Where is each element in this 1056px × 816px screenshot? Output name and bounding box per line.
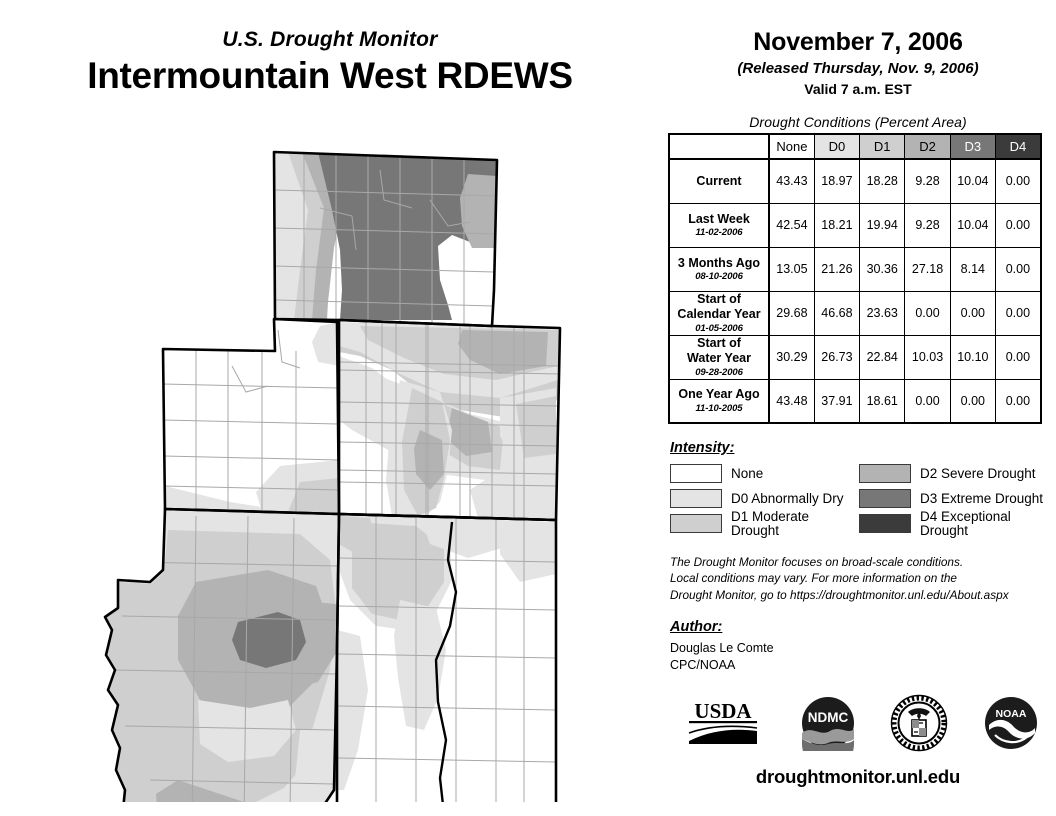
cell-d2: 9.28 bbox=[905, 203, 950, 247]
cell-d2: 0.00 bbox=[905, 291, 950, 335]
disclaimer-line-1: The Drought Monitor focuses on broad-sca… bbox=[670, 554, 1050, 570]
cell-d4: 0.00 bbox=[995, 159, 1040, 203]
legend-label-d0: D0 Abnormally Dry bbox=[731, 492, 844, 506]
cell-d0: 46.68 bbox=[814, 291, 859, 335]
cell-d4: 0.00 bbox=[995, 203, 1040, 247]
usda-logo: USDA bbox=[681, 697, 765, 754]
cell-d1: 19.94 bbox=[860, 203, 905, 247]
table-row: 3 Months Ago08-10-200613.0521.2630.3627.… bbox=[669, 247, 1041, 291]
cell-d0: 18.21 bbox=[814, 203, 859, 247]
row-date: 01-05-2006 bbox=[673, 323, 765, 334]
row-label: Start ofCalendar Year01-05-2006 bbox=[669, 291, 769, 335]
svg-text:USDA: USDA bbox=[695, 699, 753, 723]
column-header-none: None bbox=[769, 134, 814, 159]
column-header-d3: D3 bbox=[950, 134, 995, 159]
row-date: 11-02-2006 bbox=[673, 227, 765, 238]
row-date: 11-10-2005 bbox=[673, 403, 765, 414]
supertitle: U.S. Drought Monitor bbox=[0, 28, 660, 51]
legend-item-d4: D4 Exceptional Drought bbox=[859, 510, 1048, 537]
column-header-d0: D0 bbox=[814, 134, 859, 159]
page-title: Intermountain West RDEWS bbox=[0, 55, 660, 96]
cell-d4: 0.00 bbox=[995, 335, 1040, 379]
table-row: Last Week11-02-200642.5418.2119.949.2810… bbox=[669, 203, 1041, 247]
cell-none: 42.54 bbox=[769, 203, 814, 247]
author-affiliation: CPC/NOAA bbox=[670, 657, 1056, 674]
table-row: Start ofCalendar Year01-05-200629.6846.6… bbox=[669, 291, 1041, 335]
row-date: 09-28-2006 bbox=[673, 367, 765, 378]
noaa-logo: NOAA bbox=[983, 695, 1039, 756]
cell-d0: 26.73 bbox=[814, 335, 859, 379]
valid-time: Valid 7 a.m. EST bbox=[660, 81, 1056, 97]
cell-d2: 0.00 bbox=[905, 379, 950, 423]
legend-row: D1 Moderate DroughtD4 Exceptional Drough… bbox=[670, 511, 1048, 536]
row-label: Start ofWater Year09-28-2006 bbox=[669, 335, 769, 379]
legend-swatch-none bbox=[670, 464, 722, 483]
intensity-heading: Intensity: bbox=[670, 440, 1056, 456]
legend-item-d2: D2 Severe Drought bbox=[859, 464, 1048, 483]
column-header-d4: D4 bbox=[995, 134, 1040, 159]
legend-swatch-d0 bbox=[670, 489, 722, 508]
legend-label-d1: D1 Moderate Drought bbox=[731, 510, 859, 537]
title-block: U.S. Drought Monitor Intermountain West … bbox=[0, 0, 660, 97]
legend-item-d3: D3 Extreme Drought bbox=[859, 489, 1048, 508]
report-date: November 7, 2006 bbox=[660, 28, 1056, 57]
site-url[interactable]: droughtmonitor.unl.edu bbox=[660, 766, 1056, 788]
cell-none: 29.68 bbox=[769, 291, 814, 335]
cell-d1: 30.36 bbox=[860, 247, 905, 291]
author-block: Douglas Le Comte CPC/NOAA bbox=[670, 640, 1056, 674]
cell-d0: 18.97 bbox=[814, 159, 859, 203]
cell-d2: 9.28 bbox=[905, 159, 950, 203]
cell-d0: 21.26 bbox=[814, 247, 859, 291]
usdc-seal-logo bbox=[890, 694, 948, 757]
legend-item-d0: D0 Abnormally Dry bbox=[670, 489, 859, 508]
row-label: Current bbox=[669, 159, 769, 203]
author-name: Douglas Le Comte bbox=[670, 640, 1056, 657]
legend-swatch-d2 bbox=[859, 464, 911, 483]
legend-item-d1: D1 Moderate Drought bbox=[670, 510, 859, 537]
legend-label-none: None bbox=[731, 467, 763, 481]
column-header-d1: D1 bbox=[860, 134, 905, 159]
header-corner bbox=[669, 134, 769, 159]
cell-d3: 8.14 bbox=[950, 247, 995, 291]
cell-d3: 0.00 bbox=[950, 291, 995, 335]
cell-none: 43.43 bbox=[769, 159, 814, 203]
cell-d1: 23.63 bbox=[860, 291, 905, 335]
cell-d2: 10.03 bbox=[905, 335, 950, 379]
cell-none: 43.48 bbox=[769, 379, 814, 423]
cell-d3: 0.00 bbox=[950, 379, 995, 423]
row-label: 3 Months Ago08-10-2006 bbox=[669, 247, 769, 291]
agency-logos: USDA NDMC bbox=[664, 690, 1056, 760]
legend-swatch-d1 bbox=[670, 514, 722, 533]
legend-swatch-d3 bbox=[859, 489, 911, 508]
legend-swatch-d4 bbox=[859, 514, 911, 533]
legend-label-d4: D4 Exceptional Drought bbox=[920, 510, 1048, 537]
ndmc-logo: NDMC bbox=[800, 695, 856, 756]
disclaimer: The Drought Monitor focuses on broad-sca… bbox=[670, 554, 1050, 603]
cell-none: 30.29 bbox=[769, 335, 814, 379]
legend-row: NoneD2 Severe Drought bbox=[670, 461, 1048, 486]
cell-d4: 0.00 bbox=[995, 379, 1040, 423]
svg-text:NDMC: NDMC bbox=[808, 710, 849, 725]
cell-d1: 18.28 bbox=[860, 159, 905, 203]
cell-d1: 22.84 bbox=[860, 335, 905, 379]
map-panel: U.S. Drought Monitor Intermountain West … bbox=[0, 0, 660, 816]
svg-text:NOAA: NOAA bbox=[995, 708, 1026, 720]
legend-label-d2: D2 Severe Drought bbox=[920, 467, 1036, 481]
drought-shading-arizona bbox=[105, 509, 339, 802]
table-row: Start ofWater Year09-28-200630.2926.7322… bbox=[669, 335, 1041, 379]
cell-d0: 37.91 bbox=[814, 379, 859, 423]
cell-d2: 27.18 bbox=[905, 247, 950, 291]
row-date: 08-10-2006 bbox=[673, 271, 765, 282]
release-date: (Released Thursday, Nov. 9, 2006) bbox=[660, 60, 1056, 77]
cell-d3: 10.10 bbox=[950, 335, 995, 379]
cell-d4: 0.00 bbox=[995, 291, 1040, 335]
disclaimer-line-2: Local conditions may vary. For more info… bbox=[670, 570, 1050, 586]
table-header-row: None D0 D1 D2 D3 D4 bbox=[669, 134, 1041, 159]
cell-d3: 10.04 bbox=[950, 159, 995, 203]
table-caption: Drought Conditions (Percent Area) bbox=[660, 114, 1056, 130]
column-header-d2: D2 bbox=[905, 134, 950, 159]
legend-row: D0 Abnormally DryD3 Extreme Drought bbox=[670, 486, 1048, 511]
info-panel: November 7, 2006 (Released Thursday, Nov… bbox=[660, 0, 1056, 816]
table-row: Current43.4318.9718.289.2810.040.00 bbox=[669, 159, 1041, 203]
table-row: One Year Ago11-10-200543.4837.9118.610.0… bbox=[669, 379, 1041, 423]
drought-conditions-table: None D0 D1 D2 D3 D4 Current43.4318.9718.… bbox=[668, 133, 1042, 424]
cell-d4: 0.00 bbox=[995, 247, 1040, 291]
table-body: Current43.4318.9718.289.2810.040.00Last … bbox=[669, 159, 1041, 423]
drought-map-svg bbox=[0, 130, 660, 802]
drought-map bbox=[0, 130, 660, 802]
cell-d3: 10.04 bbox=[950, 203, 995, 247]
row-label: Last Week11-02-2006 bbox=[669, 203, 769, 247]
author-heading: Author: bbox=[670, 619, 1056, 635]
legend-item-none: None bbox=[670, 464, 859, 483]
legend-label-d3: D3 Extreme Drought bbox=[920, 492, 1043, 506]
cell-d1: 18.61 bbox=[860, 379, 905, 423]
cell-none: 13.05 bbox=[769, 247, 814, 291]
intensity-legend: NoneD2 Severe DroughtD0 Abnormally DryD3… bbox=[670, 461, 1048, 536]
date-block: November 7, 2006 (Released Thursday, Nov… bbox=[660, 0, 1056, 97]
disclaimer-line-3: Drought Monitor, go to https://droughtmo… bbox=[670, 587, 1050, 603]
row-label: One Year Ago11-10-2005 bbox=[669, 379, 769, 423]
